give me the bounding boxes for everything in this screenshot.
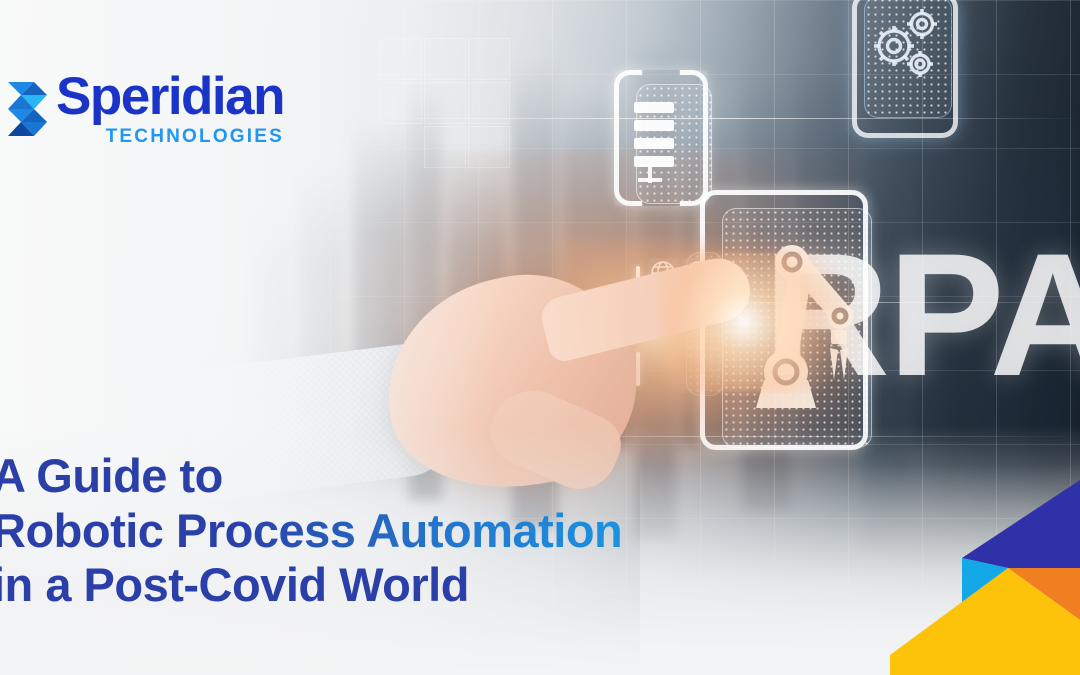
marketing-banner: RPA [0,0,1080,675]
corner-dark-blue-shape [962,480,1080,568]
brand-logo[interactable]: Speridian TECHNOLOGIES [6,72,284,148]
headline-line-2: Robotic Process Automation [0,504,622,559]
geometric-corner-accent [890,460,1080,675]
headline: A Guide to Robotic Process Automation in… [0,449,622,613]
logo-tagline: TECHNOLOGIES [56,126,284,148]
speridian-bowtie-mark [6,78,52,140]
headline-line-1: A Guide to [0,449,622,504]
headline-line-3: in a Post-Covid World [0,558,622,613]
logo-wordmark: Speridian [56,72,284,122]
